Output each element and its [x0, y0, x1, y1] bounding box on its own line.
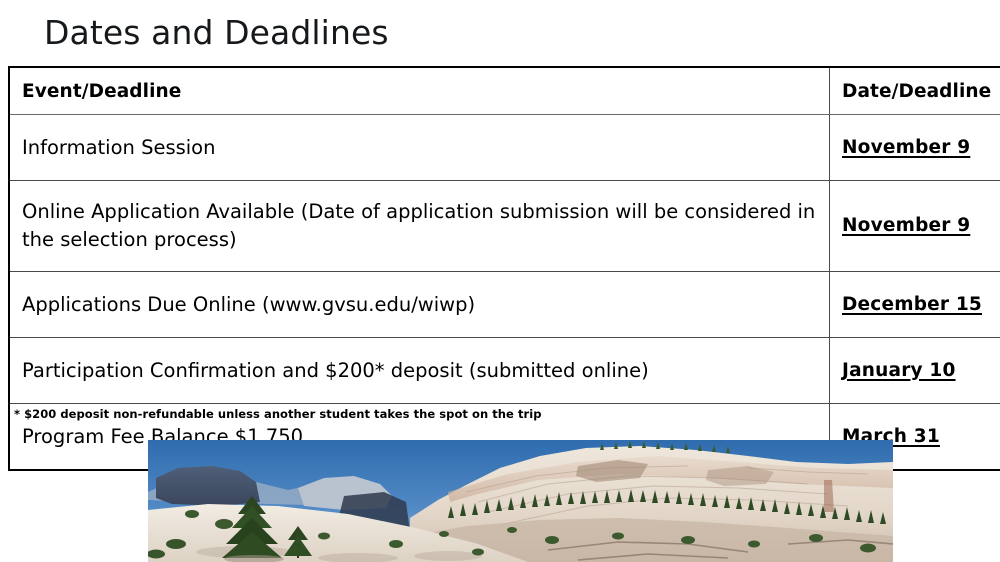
deposit-footnote: * $200 deposit non-refundable unless ano… [14, 407, 542, 421]
canyon-landscape-photo [148, 440, 893, 562]
cell-event: Online Application Available (Date of ap… [9, 181, 830, 272]
column-header-date: Date/Deadline [830, 67, 1000, 115]
cell-date: November 9 [830, 115, 1000, 181]
cell-event: Applications Due Online (www.gvsu.edu/wi… [9, 272, 830, 338]
page-title: Dates and Deadlines [44, 13, 389, 53]
cell-event: Information Session [9, 115, 830, 181]
cell-event: Participation Confirmation and $200* dep… [9, 338, 830, 404]
cell-date: November 9 [830, 181, 1000, 272]
deadline-date-value: December 15 [842, 294, 982, 315]
table-header-row: Event/Deadline Date/Deadline [9, 67, 1000, 115]
deadline-date-value: November 9 [842, 137, 970, 158]
table-row: Information Session November 9 [9, 115, 1000, 181]
slide-canvas: Dates and Deadlines Event/Deadline Date/… [0, 0, 1000, 562]
cell-date: December 15 [830, 272, 1000, 338]
column-header-event: Event/Deadline [9, 67, 830, 115]
canyon-landscape-illustration [148, 440, 893, 562]
deadline-date-value: November 9 [842, 215, 970, 236]
table-row: Online Application Available (Date of ap… [9, 181, 1000, 272]
table-row: Applications Due Online (www.gvsu.edu/wi… [9, 272, 1000, 338]
table-row: Participation Confirmation and $200* dep… [9, 338, 1000, 404]
cell-date: January 10 [830, 338, 1000, 404]
deadline-date-value: January 10 [842, 360, 956, 381]
table-header: Event/Deadline Date/Deadline [9, 67, 1000, 115]
